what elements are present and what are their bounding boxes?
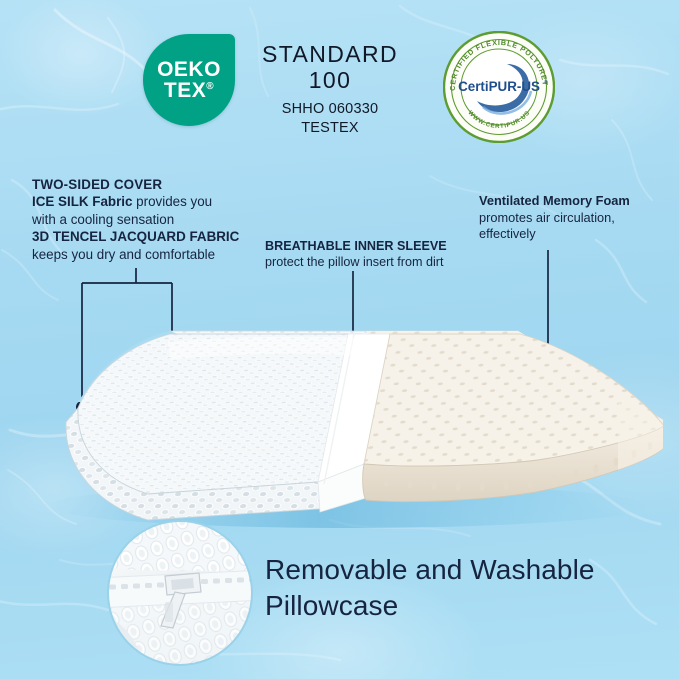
oeko-tex-badge: OEKO TEX® [143,34,235,126]
annotation-left-heading: TWO-SIDED COVER [32,176,262,193]
standard-100-block: STANDARD 100 SHHO 060330 TESTEX [240,42,420,138]
annotation-right-heading: Ventilated Memory Foam [479,193,664,210]
annotation-breathable-inner-sleeve: BREATHABLE INNER SLEEVE protect the pill… [265,238,495,271]
svg-text:®: ® [544,79,548,86]
headline-line2: Pillowcase [265,588,665,624]
annotation-left-line5: keeps you dry and comfortable [32,246,262,263]
oeko-tex-registered-icon: ® [206,81,214,92]
zipper-closeup-inset [105,518,255,668]
annotation-right-line2: promotes air circulation, [479,210,664,227]
standard-title-line1: STANDARD [240,42,420,68]
annotation-left-line3: with a cooling sensation [32,211,262,228]
standard-title-line2: 100 [240,68,420,94]
standard-code: SHHO 060330 [240,100,420,120]
certipur-us-badge: CONTAINS CERTIFIED FLEXIBLE POLYURETHANE… [443,31,555,143]
annotation-left-line2-rest: provides you [132,194,212,209]
headline-removable-washable: Removable and Washable Pillowcase [265,552,665,625]
infographic-canvas: OEKO TEX® STANDARD 100 SHHO 060330 TESTE… [0,0,679,679]
standard-institute: TESTEX [240,119,420,138]
oeko-tex-line1: OEKO [157,59,221,80]
annotation-middle-heading: BREATHABLE INNER SLEEVE [265,238,495,254]
annotation-middle-line2: protect the pillow insert from dirt [265,254,495,270]
svg-text:CertiPUR-US: CertiPUR-US [458,79,540,94]
pillow-product-image [18,298,663,528]
annotation-ventilated-memory-foam: Ventilated Memory Foam promotes air circ… [479,193,664,243]
headline-line1: Removable and Washable [265,552,665,588]
annotation-left-line4: 3D TENCEL JACQUARD FABRIC [32,228,262,245]
annotation-right-line3: effectively [479,226,664,243]
oeko-tex-line2: TEX [164,79,206,102]
annotation-two-sided-cover: TWO-SIDED COVER ICE SILK Fabric provides… [32,176,262,263]
annotation-left-line2-bold: ICE SILK Fabric [32,194,132,209]
